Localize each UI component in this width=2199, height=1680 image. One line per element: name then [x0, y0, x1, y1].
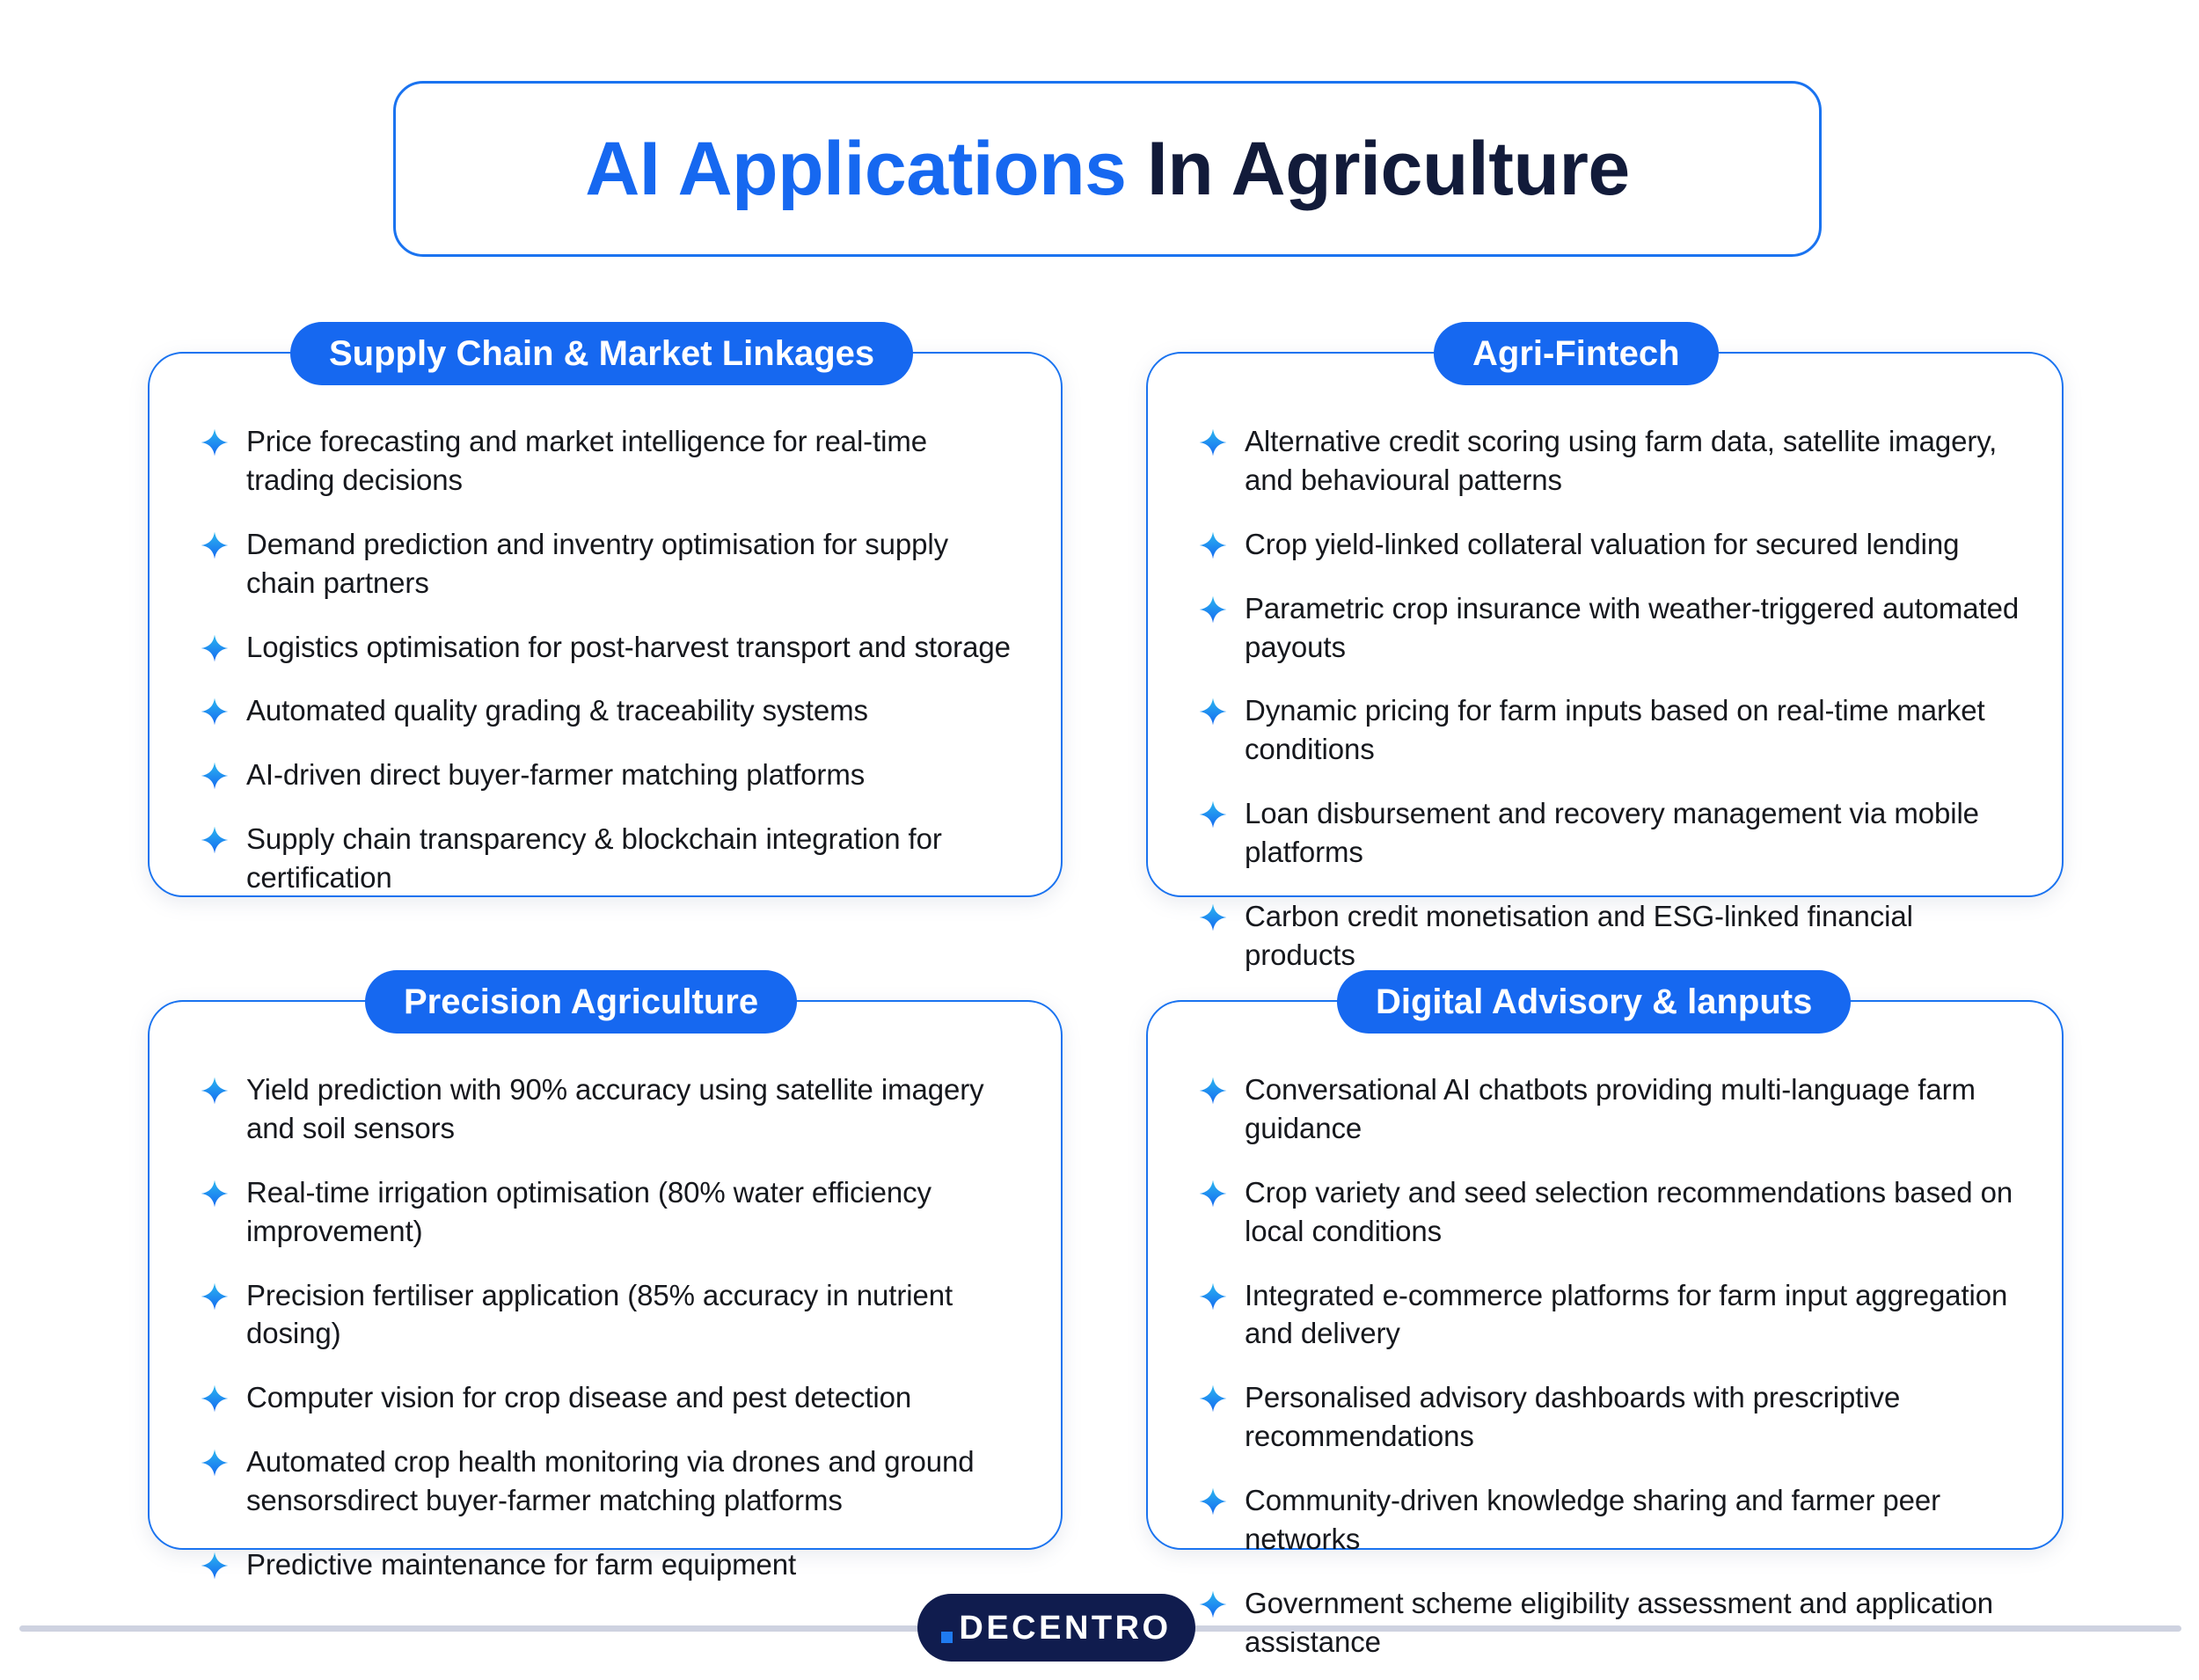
- logo-square-accent-icon: [941, 1632, 953, 1643]
- list-item-label: Logistics optimisation for post-harvest …: [246, 628, 1011, 667]
- sparkle-bullet-icon: [201, 698, 229, 726]
- page-title-rest: In Agriculture: [1127, 127, 1630, 211]
- list-item: Yield prediction with 90% accuracy using…: [201, 1070, 1019, 1148]
- list-item-label: Loan disbursement and recovery managemen…: [1245, 794, 2020, 872]
- card-header-supply-chain: Supply Chain & Market Linkages: [290, 322, 913, 385]
- list-item: Price forecasting and market intelligenc…: [201, 422, 1019, 500]
- list-item: Alternative credit scoring using farm da…: [1199, 422, 2020, 500]
- card-header-agri-fintech: Agri-Fintech: [1434, 322, 1719, 385]
- list-item: Demand prediction and inventry optimisat…: [201, 525, 1019, 603]
- sparkle-bullet-icon: [1199, 531, 1227, 559]
- card-header-label: Agri-Fintech: [1472, 336, 1680, 371]
- list-item: Crop variety and seed selection recommen…: [1199, 1173, 2020, 1251]
- list-item-label: Predictive maintenance for farm equipmen…: [246, 1545, 796, 1584]
- sparkle-bullet-icon: [1199, 698, 1227, 726]
- sparkle-bullet-icon: [1199, 1282, 1227, 1311]
- list-item-label: Carbon credit monetisation and ESG-linke…: [1245, 897, 2020, 975]
- card-header-label: Precision Agriculture: [404, 984, 758, 1019]
- list-item: Logistics optimisation for post-harvest …: [201, 628, 1019, 667]
- card-header-label: Supply Chain & Market Linkages: [329, 336, 874, 371]
- sparkle-bullet-icon: [1199, 1180, 1227, 1208]
- sparkle-bullet-icon: [1199, 1077, 1227, 1105]
- list-item-label: Conversational AI chatbots providing mul…: [1245, 1070, 2020, 1148]
- sparkle-bullet-icon: [1199, 800, 1227, 829]
- list-item: Integrated e-commerce platforms for farm…: [1199, 1276, 2020, 1354]
- card-header-label: Digital Advisory & lanputs: [1376, 984, 1812, 1019]
- list-item-label: Automated crop health monitoring via dro…: [246, 1443, 1019, 1520]
- card-body-agri-fintech: Alternative credit scoring using farm da…: [1199, 422, 2020, 975]
- card-agri-fintech: Agri-Fintech Alternative credit scoring …: [1146, 352, 2064, 897]
- list-item-label: Personalised advisory dashboards with pr…: [1245, 1378, 2020, 1456]
- card-body-precision-agriculture: Yield prediction with 90% accuracy using…: [201, 1070, 1019, 1584]
- card-digital-advisory-inputs: Digital Advisory & lanputs Conversationa…: [1146, 1000, 2064, 1550]
- list-item: Supply chain transparency & blockchain i…: [201, 820, 1019, 897]
- list-item: Conversational AI chatbots providing mul…: [1199, 1070, 2020, 1148]
- card-supply-chain-market-linkages: Supply Chain & Market Linkages Price for…: [148, 352, 1063, 897]
- list-item-label: Yield prediction with 90% accuracy using…: [246, 1070, 1019, 1148]
- list-item-label: Real-time irrigation optimisation (80% w…: [246, 1173, 1019, 1251]
- card-precision-agriculture: Precision Agriculture Yield prediction w…: [148, 1000, 1063, 1550]
- list-item: AI-driven direct buyer-farmer matching p…: [201, 756, 1019, 794]
- list-item: Parametric crop insurance with weather-t…: [1199, 589, 2020, 667]
- list-item: Carbon credit monetisation and ESG-linke…: [1199, 897, 2020, 975]
- page-title-box: AI Applications In Agriculture: [393, 81, 1822, 257]
- list-item-label: Crop variety and seed selection recommen…: [1245, 1173, 2020, 1251]
- page-title-accent: AI Applications: [585, 127, 1126, 211]
- page-title: AI Applications In Agriculture: [585, 131, 1630, 207]
- list-item-label: Government scheme eligibility assessment…: [1245, 1584, 2020, 1662]
- list-item: Computer vision for crop disease and pes…: [201, 1378, 1019, 1417]
- sparkle-bullet-icon: [1199, 903, 1227, 931]
- sparkle-bullet-icon: [1199, 595, 1227, 624]
- sparkle-bullet-icon: [201, 1552, 229, 1580]
- card-header-precision-agriculture: Precision Agriculture: [365, 970, 797, 1034]
- logo-wordmark: DECENTRO: [959, 1611, 1171, 1645]
- sparkle-bullet-icon: [201, 634, 229, 662]
- sparkle-bullet-icon: [201, 1282, 229, 1311]
- list-item-label: Alternative credit scoring using farm da…: [1245, 422, 2020, 500]
- infographic-page: AI Applications In Agriculture Supply Ch…: [0, 0, 2199, 1680]
- sparkle-bullet-icon: [201, 1449, 229, 1477]
- list-item: Precision fertiliser application (85% ac…: [201, 1276, 1019, 1354]
- list-item: Dynamic pricing for farm inputs based on…: [1199, 691, 2020, 769]
- list-item-label: Parametric crop insurance with weather-t…: [1245, 589, 2020, 667]
- list-item: Crop yield-linked collateral valuation f…: [1199, 525, 2020, 564]
- list-item: Loan disbursement and recovery managemen…: [1199, 794, 2020, 872]
- sparkle-bullet-icon: [1199, 1487, 1227, 1516]
- list-item-label: Crop yield-linked collateral valuation f…: [1245, 525, 1959, 564]
- list-item-label: Computer vision for crop disease and pes…: [246, 1378, 911, 1417]
- list-item-label: AI-driven direct buyer-farmer matching p…: [246, 756, 865, 794]
- list-item: Real-time irrigation optimisation (80% w…: [201, 1173, 1019, 1251]
- decentro-logo: DECENTRO: [917, 1594, 1195, 1662]
- sparkle-bullet-icon: [1199, 428, 1227, 457]
- list-item-label: Integrated e-commerce platforms for farm…: [1245, 1276, 2020, 1354]
- list-item-label: Community-driven knowledge sharing and f…: [1245, 1481, 2020, 1559]
- list-item: Personalised advisory dashboards with pr…: [1199, 1378, 2020, 1456]
- list-item-label: Automated quality grading & traceability…: [246, 691, 868, 730]
- list-item-label: Demand prediction and inventry optimisat…: [246, 525, 1019, 603]
- sparkle-bullet-icon: [201, 1077, 229, 1105]
- list-item: Automated crop health monitoring via dro…: [201, 1443, 1019, 1520]
- list-item-label: Dynamic pricing for farm inputs based on…: [1245, 691, 2020, 769]
- list-item: Community-driven knowledge sharing and f…: [1199, 1481, 2020, 1559]
- sparkle-bullet-icon: [201, 1384, 229, 1413]
- sparkle-bullet-icon: [201, 826, 229, 854]
- card-body-digital-advisory: Conversational AI chatbots providing mul…: [1199, 1070, 2020, 1662]
- sparkle-bullet-icon: [1199, 1590, 1227, 1618]
- list-item-label: Price forecasting and market intelligenc…: [246, 422, 1019, 500]
- sparkle-bullet-icon: [201, 762, 229, 790]
- card-body-supply-chain: Price forecasting and market intelligenc…: [201, 422, 1019, 897]
- list-item-label: Supply chain transparency & blockchain i…: [246, 820, 1019, 897]
- list-item-label: Precision fertiliser application (85% ac…: [246, 1276, 1019, 1354]
- list-item: Automated quality grading & traceability…: [201, 691, 1019, 730]
- list-item: Predictive maintenance for farm equipmen…: [201, 1545, 1019, 1584]
- sparkle-bullet-icon: [201, 1180, 229, 1208]
- card-header-digital-advisory: Digital Advisory & lanputs: [1337, 970, 1851, 1034]
- list-item: Government scheme eligibility assessment…: [1199, 1584, 2020, 1662]
- sparkle-bullet-icon: [1199, 1384, 1227, 1413]
- sparkle-bullet-icon: [201, 531, 229, 559]
- sparkle-bullet-icon: [201, 428, 229, 457]
